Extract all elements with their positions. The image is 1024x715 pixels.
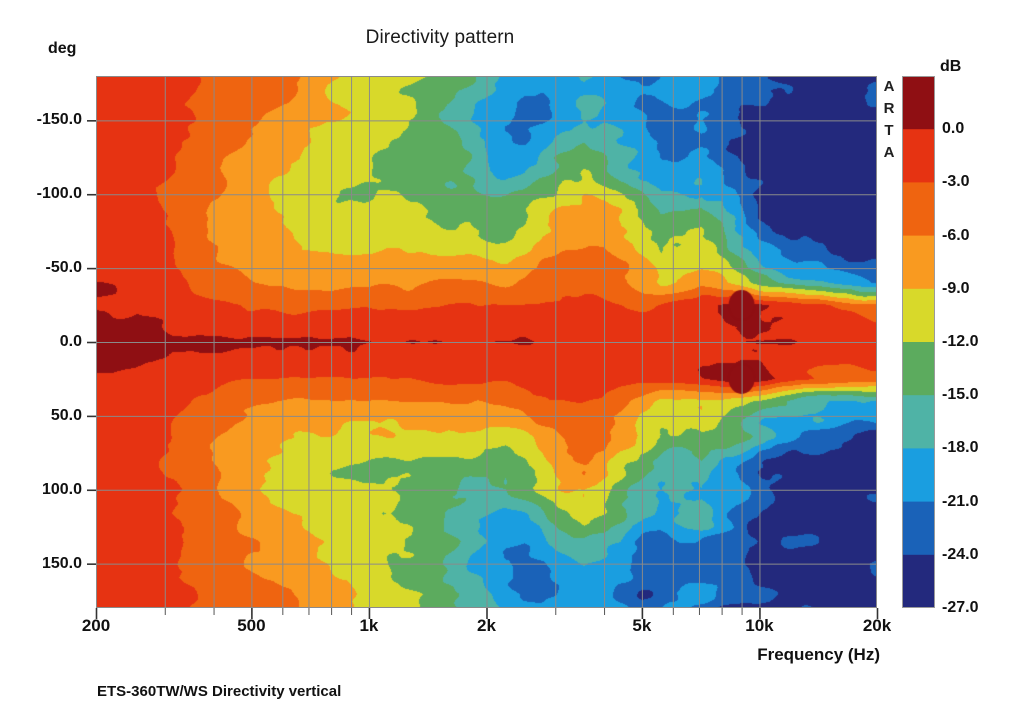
x-axis-tick-label: 200 — [56, 616, 136, 636]
y-axis-tick-label: -50.0 — [0, 259, 82, 277]
colorbar-tick-label: -9.0 — [942, 280, 970, 298]
x-axis-tick-label: 500 — [211, 616, 291, 636]
colorbar-tick-label: -27.0 — [942, 599, 978, 617]
arta-letter: R — [879, 98, 899, 120]
colorbar-unit-label: dB — [940, 58, 961, 76]
y-axis-tick-label: -150.0 — [0, 111, 82, 129]
arta-letter: A — [879, 76, 899, 98]
arta-watermark: ARTA — [879, 76, 899, 164]
y-axis-tick-label: 100.0 — [0, 481, 82, 499]
arta-letter: T — [879, 120, 899, 142]
x-axis-tick-label: 5k — [602, 616, 682, 636]
colorbar-band — [902, 76, 935, 130]
colorbar-band — [902, 555, 935, 608]
colorbar-band — [902, 448, 935, 502]
colorbar-tick-label: 0.0 — [942, 120, 964, 138]
y-axis-tick-label: -100.0 — [0, 185, 82, 203]
colorbar-tick-label: -24.0 — [942, 546, 978, 564]
directivity-chart-page: Directivity pattern deg ARTA dB Frequenc… — [0, 0, 1024, 715]
axes-layer — [0, 0, 1024, 715]
colorbar-tick-label: -15.0 — [942, 386, 978, 404]
x-axis-title: Frequency (Hz) — [620, 645, 880, 665]
y-axis-tick-label: 0.0 — [0, 333, 82, 351]
y-axis-tick-label: 50.0 — [0, 407, 82, 425]
colorbar-tick-label: -21.0 — [942, 493, 978, 511]
x-axis-tick-label: 2k — [447, 616, 527, 636]
y-axis-tick-label: 150.0 — [0, 555, 82, 573]
colorbar — [902, 76, 935, 608]
colorbar-band — [902, 129, 935, 183]
colorbar-tick-label: -18.0 — [942, 439, 978, 457]
colorbar-band — [902, 182, 935, 236]
colorbar-tick-label: -12.0 — [942, 333, 978, 351]
arta-letter: A — [879, 142, 899, 164]
colorbar-band — [902, 342, 935, 396]
colorbar-tick-label: -6.0 — [942, 227, 970, 245]
colorbar-band — [902, 502, 935, 556]
x-axis-tick-label: 1k — [329, 616, 409, 636]
colorbar-tick-label: -3.0 — [942, 173, 970, 191]
colorbar-band — [902, 395, 935, 449]
colorbar-band — [902, 236, 935, 290]
chart-caption: ETS-360TW/WS Directivity vertical — [97, 683, 341, 700]
x-axis-tick-label: 20k — [837, 616, 917, 636]
colorbar-band — [902, 289, 935, 343]
x-axis-tick-label: 10k — [719, 616, 799, 636]
